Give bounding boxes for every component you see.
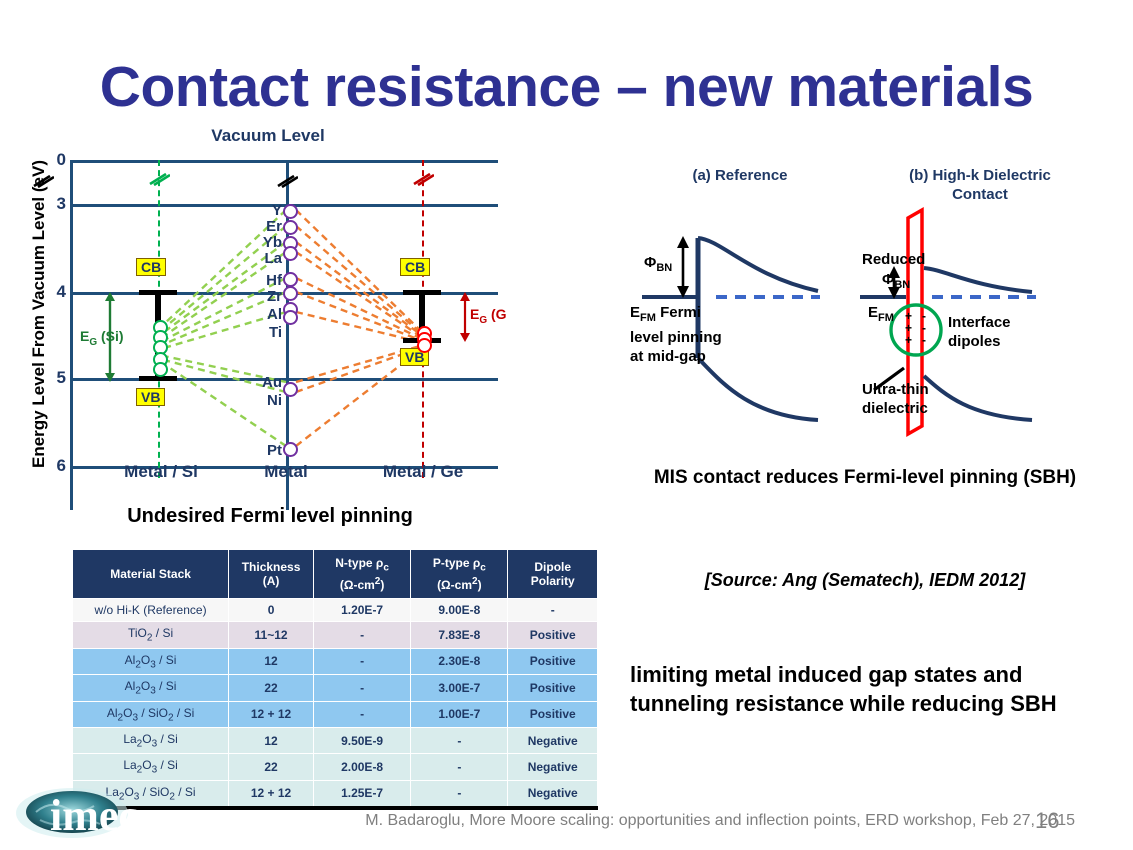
table-cell: Negative [508,727,598,753]
phi-bn-label-b: ΦBN [882,270,910,295]
th-line1: Thickness [242,560,301,574]
table-cell: Al2O3 / Si [73,648,229,674]
source-citation: [Source: Ang (Sematech), IEDM 2012] [630,570,1100,591]
band-diagram-caption: Undesired Fermi level pinning [60,505,480,528]
metal-dot-er [283,220,298,235]
table-cell: Al2O3 / SiO2 / Si [73,701,229,727]
table-cell: w/o Hi-K (Reference) [73,599,229,622]
mis-diagram-caption: MIS contact reduces Fermi-level pinning … [630,465,1100,490]
ultrathin-dielectric-label: Ultra-thin dielectric [862,380,929,418]
table-cell: 22 [229,675,314,701]
fermi-line2: level pinning [630,329,722,346]
table-cell: Negative [508,780,598,806]
eg-si-subscript: G [89,337,97,348]
table-row: Al2O3 / SiO2 / Si12 + 12-1.00E-7Positive [73,701,598,727]
th-line1: Material Stack [110,567,191,581]
eg-si-tail: (Si) [97,328,123,344]
mis-diagram-figure: (a) Reference (b) High-k Dielectric Cont… [630,158,1100,448]
table-cell: 1.25E-7 [313,780,410,806]
table-cell: 12 + 12 [229,701,314,727]
fermi-line1: Fermi [660,304,701,321]
metal-label-au: Au [246,374,282,391]
th-line1: Dipole [534,560,571,574]
body-text: limiting metal induced gap states and tu… [630,660,1110,718]
metal-label-er: Er [246,218,282,235]
eg-ge-symbol: E [470,306,479,322]
table-body: w/o Hi-K (Reference)01.20E-79.00E-8-TiO2… [73,599,598,807]
metal-label-ti: Ti [246,324,282,341]
metal-dot-hf [283,272,298,287]
th-thickness: Thickness (A) [229,550,314,599]
dipole-minus: - [922,333,926,347]
footer-text: M. Badaroglu, More Moore scaling: opport… [0,812,1075,830]
metal-dot-zr [283,286,298,301]
metal-dot-pt [283,442,298,457]
table-cell: - [411,727,508,753]
eg-ge-label: EG (G [470,306,507,326]
table-cell: - [411,780,508,806]
metal-dot-au [283,382,298,397]
phi-subscript-b: BN [894,279,910,291]
phi-subscript-a: BN [656,262,672,274]
table-cell: 12 [229,648,314,674]
table-cell: La2O3 / Si [73,754,229,780]
th-material-stack: Material Stack [73,550,229,599]
table-cell: 7.83E-8 [411,622,508,648]
table-cell: - [411,754,508,780]
metal-label-ni: Ni [246,392,282,409]
table-cell: - [313,622,410,648]
metal-label-hf: Hf [246,272,282,289]
th-line2: (A) [263,574,280,588]
si-pin-dot [153,362,168,377]
table-row: Al2O3 / Si12-2.30E-8Positive [73,648,598,674]
table-cell: - [313,675,410,701]
table-cell: Positive [508,701,598,727]
phi-symbol-a: Φ [644,254,656,271]
band-diagram-figure: Vacuum Level Energy Level From Vacuum Le… [8,126,508,516]
si-vb-box: VB [136,388,165,406]
efm-symbol-b: E [868,304,878,321]
metal-label-al: Al [246,306,282,323]
efm-subscript-b: FM [878,312,894,324]
table-row: w/o Hi-K (Reference)01.20E-79.00E-8- [73,599,598,622]
ultrathin-line1: Ultra-thin [862,381,929,398]
table-cell: 12 [229,727,314,753]
th-p-type-rho: P-type ρc(Ω-cm2) [411,550,508,599]
metal-dot-ti [283,310,298,325]
si-cb-edge [139,290,177,295]
table-header-row: Material Stack Thickness (A) N-type ρc(Ω… [73,550,598,599]
col-header-metal-ge: Metal / Ge [348,462,498,482]
reduced-label: Reduced [862,250,925,269]
ultrathin-line2: dielectric [862,400,928,417]
efm-fermi-text-a: EFM Fermi level pinning at mid-gap [630,303,722,366]
metal-label-y: Y [246,202,282,219]
table-cell: La2O3 / Si [73,727,229,753]
table-cell: - [508,599,598,622]
table-cell: 9.00E-8 [411,599,508,622]
metal-label-yb: Yb [246,234,282,251]
interface-dipoles-label: Interface dipoles [948,313,1011,351]
table-row: La2O3 / Si129.50E-9-Negative [73,727,598,753]
th-n-type-rho: N-type ρc(Ω-cm2) [313,550,410,599]
table-cell: 1.20E-7 [313,599,410,622]
metal-label-zr: Zr [246,288,282,305]
table-cell: Positive [508,675,598,701]
col-header-metal: Metal [230,462,342,482]
table-cell: Positive [508,622,598,648]
fermi-line3: at mid-gap [630,348,706,365]
ge-pin-dot [417,338,432,353]
dipole-plus: + [905,333,912,347]
results-table: Material Stack Thickness (A) N-type ρc(Ω… [72,549,598,807]
eg-ge-tail: (G [487,306,506,322]
table-cell: Al2O3 / Si [73,675,229,701]
table-cell: 9.50E-9 [313,727,410,753]
interface-line2: dipoles [948,333,1001,350]
page-title: Contact resistance – new materials [0,54,1133,120]
metal-dot-la [283,246,298,261]
table-cell: 3.00E-7 [411,675,508,701]
phi-symbol-b: Φ [882,271,894,288]
eg-si-symbol: E [80,328,89,344]
table-row: TiO2 / Si11~12-7.83E-8Positive [73,622,598,648]
table-cell: Positive [508,648,598,674]
table-cell: - [313,648,410,674]
table-cell: - [313,701,410,727]
table-row: La2O3 / Si222.00E-8-Negative [73,754,598,780]
si-cb-box: CB [136,258,166,276]
efm-subscript-a: FM [640,312,656,324]
efm-symbol-a: E [630,304,640,321]
eg-ge-subscript: G [479,315,487,326]
eg-si-label: EG (Si) [80,328,124,348]
table-cell: 2.00E-8 [313,754,410,780]
th-dipole-polarity: Dipole Polarity [508,550,598,599]
dipole-plus-column: + + + [905,310,912,346]
table-cell: 11~12 [229,622,314,648]
ge-cb-edge [403,290,441,295]
table-row: Al2O3 / Si22-3.00E-7Positive [73,675,598,701]
table-cell: 1.00E-7 [411,701,508,727]
table-cell: Negative [508,754,598,780]
phi-bn-label-a: ΦBN [644,253,672,278]
table-cell: TiO2 / Si [73,622,229,648]
interface-line1: Interface [948,314,1011,331]
table-cell: 12 + 12 [229,780,314,806]
col-header-metal-si: Metal / Si [96,462,226,482]
metal-label-la: La [246,250,282,267]
th-line2: Polarity [531,574,575,588]
table-cell: 22 [229,754,314,780]
metal-dot-y [283,204,298,219]
efm-label-b: EFM [868,303,894,328]
dipole-minus-column: - - - [922,310,926,346]
table-cell: 2.30E-8 [411,648,508,674]
ge-cb-box: CB [400,258,430,276]
page-number: 16 [1035,808,1059,834]
metal-label-pt: Pt [246,442,282,459]
table-cell: 0 [229,599,314,622]
